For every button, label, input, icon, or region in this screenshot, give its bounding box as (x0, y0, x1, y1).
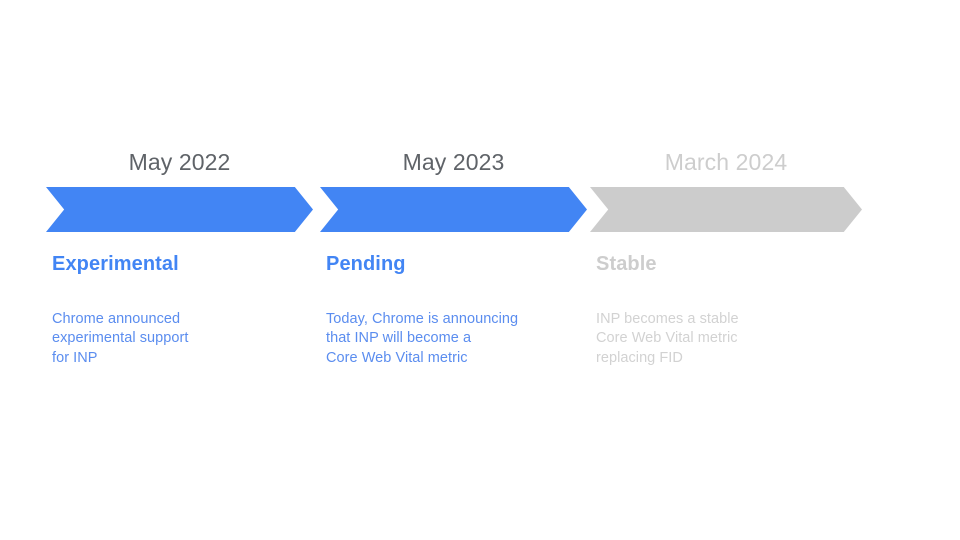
timeline-stage-3: March 2024 Stable INP becomes a stable C… (590, 145, 866, 395)
stage-1-description-line-3: for INP (52, 349, 312, 368)
timeline-stage-1: May 2022 Experimental Chrome announced e… (46, 145, 322, 395)
stage-2-description-line-2: that INP will become a (326, 329, 586, 348)
timeline-stage-2: May 2023 Pending Today, Chrome is announ… (320, 145, 596, 395)
stage-1-chevron-arrow (46, 187, 313, 232)
stage-1-description-line-2: experimental support (52, 329, 312, 348)
stage-3-date-label: March 2024 (590, 145, 862, 179)
stage-1-heading: Experimental (52, 253, 179, 276)
stage-3-heading: Stable (596, 253, 657, 276)
stage-2-description: Today, Chrome is announcing that INP wil… (326, 310, 586, 368)
stage-3-description-line-3: replacing FID (596, 349, 856, 368)
stage-1-description-line-1: Chrome announced (52, 310, 312, 329)
stage-3-description-line-2: Core Web Vital metric (596, 329, 856, 348)
stage-2-description-line-3: Core Web Vital metric (326, 349, 586, 368)
stage-1-date-label: May 2022 (46, 145, 313, 179)
inp-timeline-diagram: May 2022 Experimental Chrome announced e… (0, 0, 960, 540)
stage-2-date-label: May 2023 (320, 145, 587, 179)
stage-3-chevron-arrow (590, 187, 862, 232)
stage-2-chevron-arrow (320, 187, 587, 232)
stage-3-description: INP becomes a stable Core Web Vital metr… (596, 310, 856, 368)
stage-3-description-line-1: INP becomes a stable (596, 310, 856, 329)
stage-2-heading: Pending (326, 253, 406, 276)
stage-1-description: Chrome announced experimental support fo… (52, 310, 312, 368)
stage-2-description-line-1: Today, Chrome is announcing (326, 310, 586, 329)
